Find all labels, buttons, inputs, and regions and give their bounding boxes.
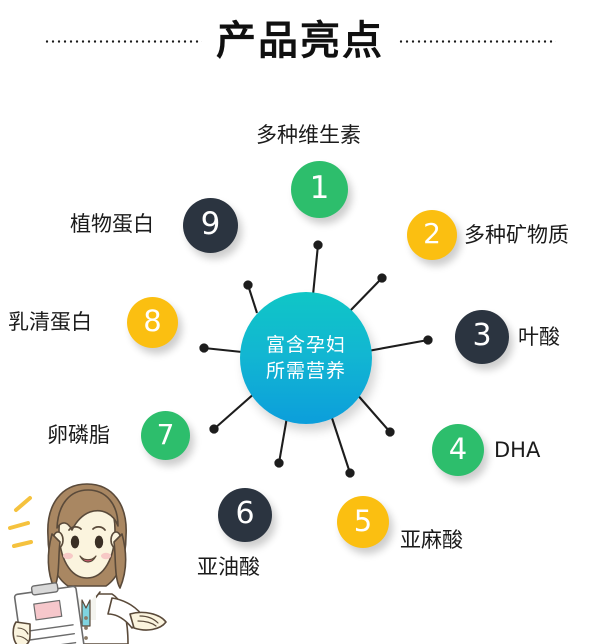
badge-8[interactable]: 8 [127,297,178,348]
badge-2[interactable]: 2 [407,210,457,260]
label-9: 植物蛋白 [70,214,154,235]
label-8: 乳清蛋白 [8,312,92,333]
center-hub: 富含孕妇 所需营养 [240,292,372,424]
hub-line-2: 所需营养 [266,358,346,384]
badge-2-number: 2 [423,220,441,248]
header-rule-right [398,40,556,43]
infographic-canvas: 产品亮点 富含孕妇 所需营养 1 [0,0,600,644]
badge-1[interactable]: 1 [291,161,348,218]
badge-5[interactable]: 5 [337,496,389,548]
label-3: 叶酸 [518,327,560,348]
header: 产品亮点 [0,10,600,72]
label-6: 亚油酸 [197,557,260,578]
badge-6[interactable]: 6 [218,488,272,542]
badge-4[interactable]: 4 [432,424,484,476]
badge-9-number: 9 [201,209,221,240]
label-5: 亚麻酸 [400,530,463,551]
header-rule-left [44,40,202,43]
badge-5-number: 5 [354,507,372,536]
hub-line-1: 富含孕妇 [266,332,346,358]
nutritionist-illustration [2,468,172,644]
badge-3[interactable]: 3 [455,310,509,364]
badge-7-number: 7 [157,421,175,449]
badge-4-number: 4 [449,435,467,464]
label-4: DHA [494,440,540,461]
label-2: 多种矿物质 [464,225,569,246]
label-1: 多种维生素 [256,125,361,146]
badge-1-number: 1 [310,173,330,204]
badge-6-number: 6 [235,499,254,529]
badge-7[interactable]: 7 [141,411,190,460]
badge-8-number: 8 [143,307,161,336]
page-title: 产品亮点 [216,21,384,61]
label-7: 卵磷脂 [47,425,110,446]
badge-3-number: 3 [472,321,491,351]
badge-9[interactable]: 9 [183,198,238,253]
